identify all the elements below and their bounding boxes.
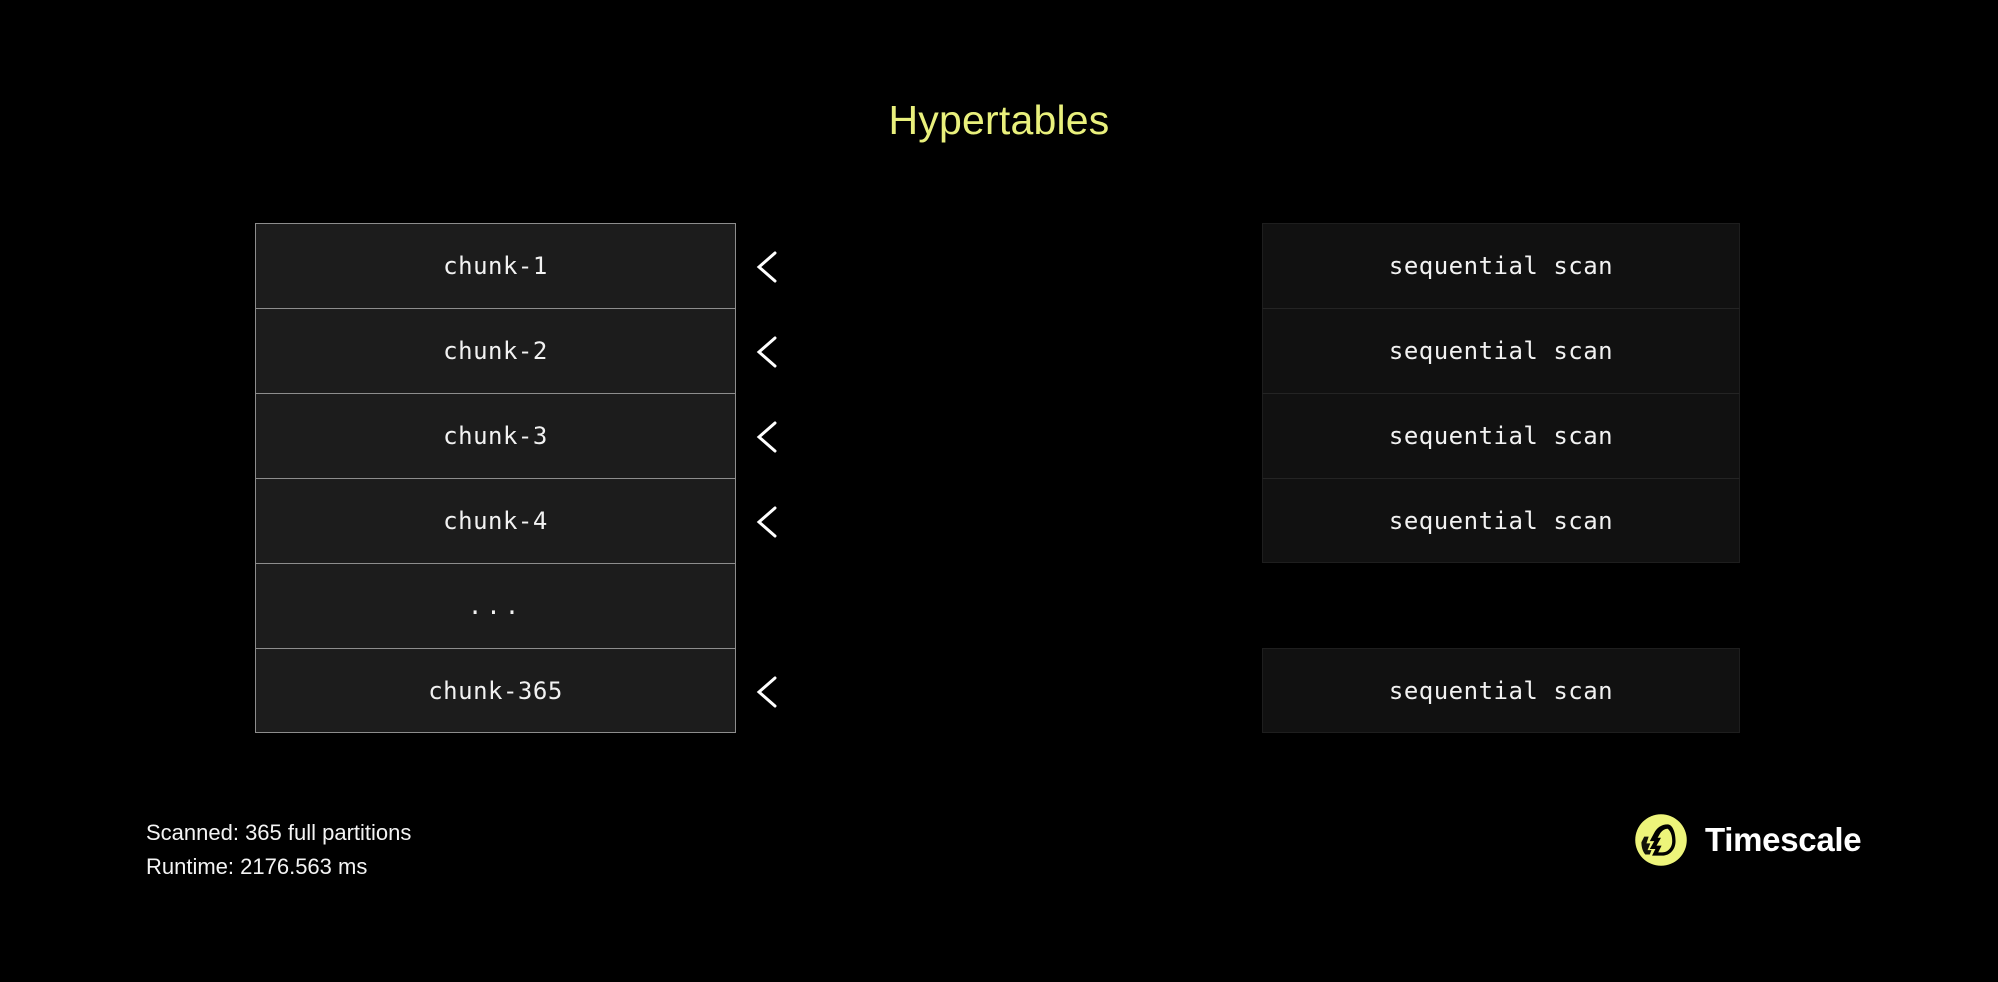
page-title: Hypertables	[0, 97, 1998, 144]
scan-label: sequential scan	[1389, 337, 1613, 365]
scan-label: sequential scan	[1389, 677, 1613, 705]
scan-group-last: sequential scan	[1262, 648, 1740, 733]
scan-row: sequential scan	[1262, 393, 1740, 478]
scan-list: sequential scan sequential scan sequenti…	[1262, 223, 1740, 733]
chunk-row: chunk-2	[255, 308, 736, 393]
chunk-label: chunk-2	[443, 337, 548, 365]
timescale-tiger-icon	[1633, 812, 1689, 868]
footer-stats: Scanned: 365 full partitions Runtime: 21…	[146, 816, 411, 884]
chunk-list: chunk-1 chunk-2 chunk-3 chunk-4 ... chun…	[255, 223, 736, 733]
scan-label: sequential scan	[1389, 507, 1613, 535]
arrow-to-chunk-365	[759, 678, 1232, 706]
scanned-partitions-text: Scanned: 365 full partitions	[146, 816, 411, 850]
scan-label: sequential scan	[1389, 252, 1613, 280]
chunk-row: chunk-4	[255, 478, 736, 563]
arrow-to-chunk-1	[759, 253, 1232, 281]
chunk-label-ellipsis: ...	[468, 592, 523, 620]
scan-row: sequential scan	[1262, 478, 1740, 563]
arrow-to-chunk-4	[759, 508, 1232, 536]
arrow-to-chunk-3	[759, 423, 1232, 451]
slide-canvas: Hypertables chunk-1 chunk-2 chunk-3 chun…	[0, 0, 1998, 982]
chunk-label: chunk-1	[443, 252, 548, 280]
scan-row: sequential scan	[1262, 648, 1740, 733]
chunk-row-ellipsis: ...	[255, 563, 736, 648]
scan-row: sequential scan	[1262, 223, 1740, 308]
scan-label: sequential scan	[1389, 422, 1613, 450]
chunk-row: chunk-1	[255, 223, 736, 308]
brand-logo: Timescale	[1633, 812, 1861, 868]
arrow-to-chunk-2	[759, 338, 1232, 366]
chunk-row: chunk-3	[255, 393, 736, 478]
chunk-label: chunk-4	[443, 507, 548, 535]
chunk-label: chunk-3	[443, 422, 548, 450]
scan-row: sequential scan	[1262, 308, 1740, 393]
scan-group-top: sequential scan sequential scan sequenti…	[1262, 223, 1740, 563]
brand-name: Timescale	[1705, 821, 1861, 859]
chunk-label: chunk-365	[428, 677, 563, 705]
runtime-text: Runtime: 2176.563 ms	[146, 850, 411, 884]
chunk-row: chunk-365	[255, 648, 736, 733]
